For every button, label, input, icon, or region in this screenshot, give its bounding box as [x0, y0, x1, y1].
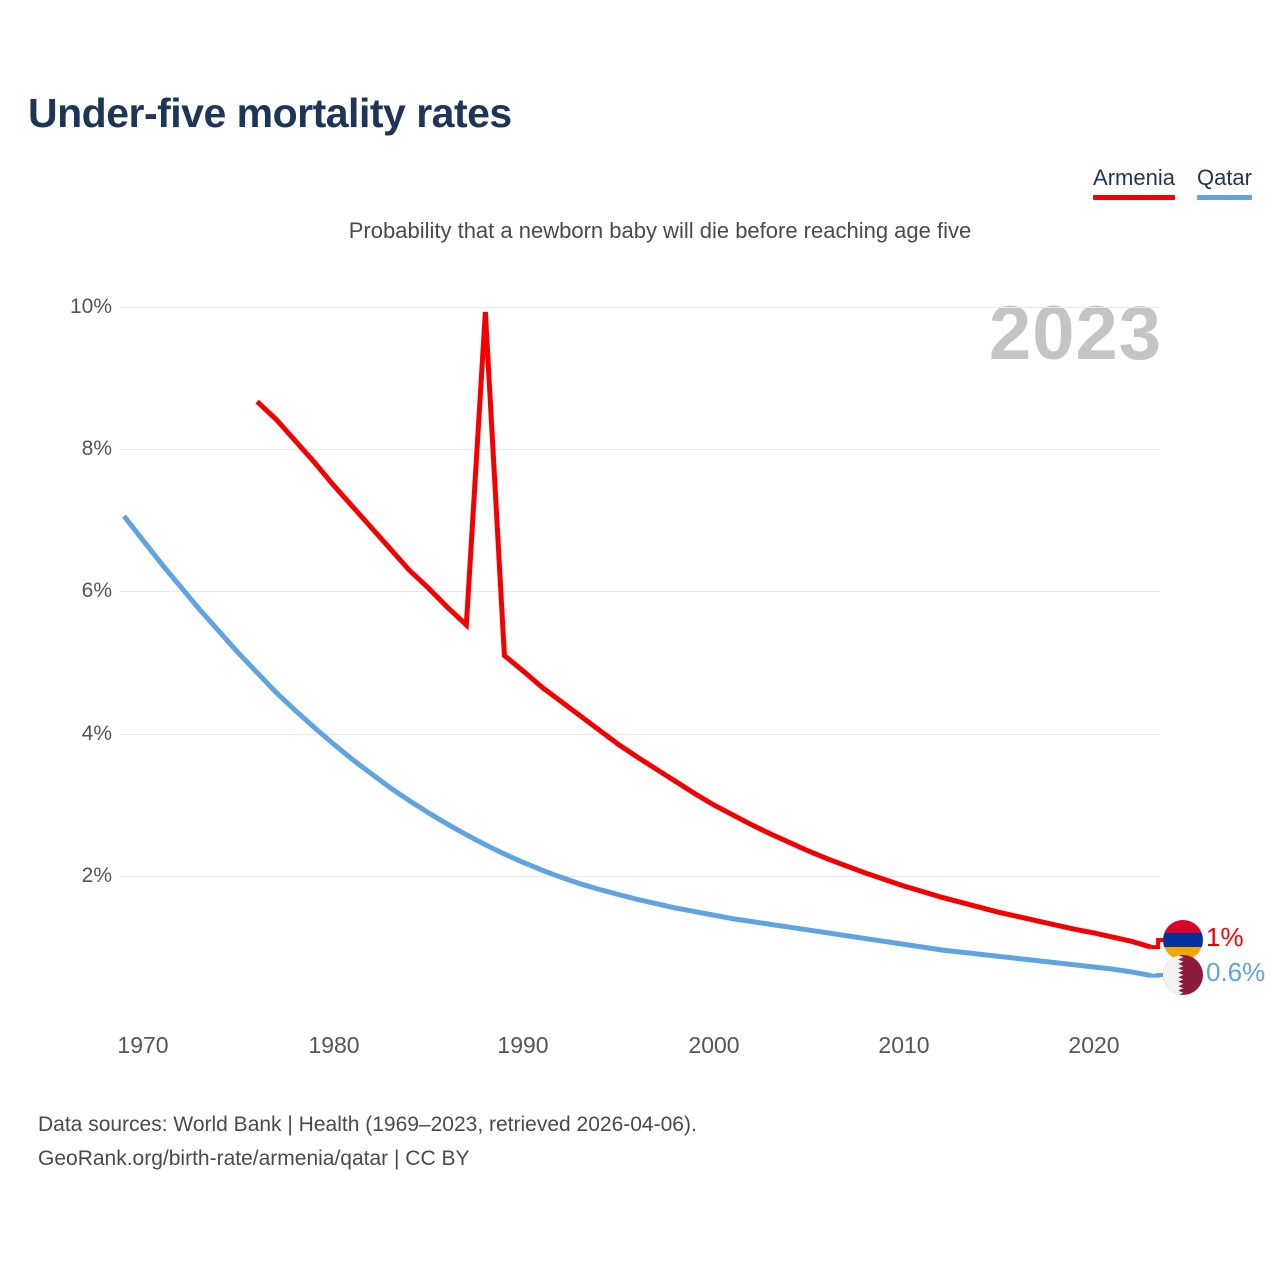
- gridline-6: [120, 591, 1160, 592]
- x-tick-2010: 2010: [878, 1032, 929, 1059]
- qatar-flag-serration: [1163, 955, 1203, 995]
- x-tick-1980: 1980: [308, 1032, 359, 1059]
- footer-attribution: GeoRank.org/birth-rate/armenia/qatar | C…: [38, 1142, 697, 1176]
- end-value-qatar: 0.6%: [1206, 957, 1265, 988]
- x-tick-2020: 2020: [1068, 1032, 1119, 1059]
- armenia-flag-band-red: [1163, 920, 1203, 933]
- y-tick-10: 10%: [70, 295, 112, 319]
- qatar-flag-body: [1163, 955, 1203, 995]
- footer: Data sources: World Bank | Health (1969–…: [38, 1108, 697, 1176]
- gridline-4: [120, 734, 1160, 735]
- end-value-armenia: 1%: [1206, 922, 1244, 953]
- gridline-10: [120, 307, 1160, 308]
- legend-item-qatar[interactable]: Qatar: [1197, 165, 1252, 200]
- footer-data-sources: Data sources: World Bank | Health (1969–…: [38, 1108, 697, 1142]
- series-line-armenia: [257, 312, 1151, 947]
- x-tick-1990: 1990: [497, 1032, 548, 1059]
- gridline-8: [120, 449, 1160, 450]
- x-tick-1970: 1970: [117, 1032, 168, 1059]
- connector-qatar: [1151, 975, 1163, 976]
- armenia-flag-icon[interactable]: [1163, 920, 1203, 960]
- connector-armenia: [1151, 940, 1163, 947]
- page-title: Under-five mortality rates: [28, 90, 512, 137]
- y-tick-4: 4%: [82, 722, 112, 746]
- x-tick-2000: 2000: [688, 1032, 739, 1059]
- legend-item-armenia[interactable]: Armenia: [1093, 165, 1175, 200]
- legend-label-armenia: Armenia: [1093, 165, 1175, 191]
- y-tick-6: 6%: [82, 579, 112, 603]
- gridline-2: [120, 876, 1160, 877]
- y-tick-8: 8%: [82, 437, 112, 461]
- chart-subtitle: Probability that a newborn baby will die…: [0, 218, 1280, 244]
- legend-swatch-qatar: [1197, 195, 1252, 200]
- y-tick-2: 2%: [82, 864, 112, 888]
- armenia-flag-band-blue: [1163, 933, 1203, 946]
- legend-label-qatar: Qatar: [1197, 165, 1252, 191]
- chart-page: Under-five mortality rates Armenia Qatar…: [0, 0, 1280, 1280]
- series-line-qatar: [124, 516, 1151, 975]
- legend: Armenia Qatar: [1093, 165, 1252, 200]
- legend-swatch-armenia: [1093, 195, 1175, 200]
- qatar-flag-icon[interactable]: [1163, 955, 1203, 995]
- series-lines: [0, 0, 1280, 1280]
